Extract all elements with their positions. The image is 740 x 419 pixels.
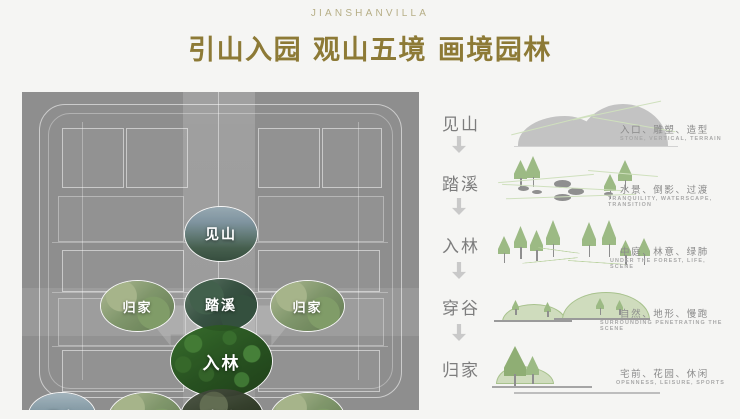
plan-marker-label: 归家 (122, 297, 152, 316)
stage-label-tashi: 踏溪 (442, 170, 480, 195)
building-block (322, 128, 382, 188)
building-block (258, 128, 320, 188)
plan-marker-jianshan-top[interactable]: 见山 (184, 206, 258, 262)
stage-desc-en-guijia: OPENNESS, LEISURE, SPORTS (616, 380, 725, 386)
building-block (58, 196, 184, 242)
plan-marker-label: 见山 (47, 406, 77, 411)
plan-marker-guijia-4[interactable]: 归家 (270, 392, 345, 410)
arrow-down-icon (452, 324, 466, 341)
stage-label-rulin: 入林 (442, 232, 480, 257)
stage-desc-en-tashi: TRANQUILITY, WATERSCAPE, TRANSITION (608, 196, 730, 208)
plan-marker-guijia-2[interactable]: 归家 (270, 280, 345, 332)
plan-marker-label: 入林 (203, 349, 241, 374)
stage-desc-cn-rulin: 中庭、林意、绿肺 (620, 244, 709, 258)
arrow-down-icon (452, 136, 466, 153)
plan-marker-guijia-1[interactable]: 归家 (100, 280, 175, 332)
page-title: 引山入园 观山五境 画境园林 (0, 28, 740, 67)
building-block (62, 350, 184, 392)
arrow-down-icon (452, 198, 466, 215)
stage-label-jianshan: 见山 (442, 110, 480, 135)
building-block (258, 196, 384, 242)
stage-desc-cn-guijia: 宅前、花园、休闲 (620, 366, 709, 380)
plan-marker-tashi[interactable]: 踏溪 (184, 278, 258, 332)
building-block (258, 350, 380, 392)
plan-grid-line (358, 122, 359, 380)
building-block (62, 128, 124, 188)
arrow-down-icon (452, 262, 466, 279)
stage-label-chuangu: 穿谷 (442, 294, 480, 319)
brand-wordmark: JIANSHANVILLA (0, 8, 740, 19)
stage-desc-en-chuangu: SURROUNDING PENETRATING THE SCENE (600, 320, 730, 332)
plan-marker-guijia-3[interactable]: 归家 (108, 392, 183, 410)
plan-marker-label: 归家 (292, 409, 322, 411)
stage-desc-cn-tashi: 水景、倒影、过渡 (620, 182, 709, 196)
site-master-plan[interactable]: 见山 踏溪 入林 穿谷 归家 归家 归家 归家 (22, 92, 419, 410)
building-block (126, 128, 188, 188)
plan-marker-label: 归家 (292, 297, 322, 316)
plan-marker-label: 见山 (205, 224, 237, 244)
plan-marker-label: 踏溪 (205, 295, 237, 315)
stage-desc-en-jianshan: STONE, VERTICAL, TERRAIN (620, 136, 722, 142)
stage-desc-cn-jianshan: 入口、雕塑、造型 (620, 122, 709, 136)
plan-marker-chuangu[interactable]: 穿谷 (180, 388, 264, 410)
stage-desc-en-rulin: UNDER THE FOREST, LIFE, SCENE (610, 258, 730, 270)
stage-label-guijia: 归家 (442, 356, 480, 381)
slide-root: JIANSHANVILLA 引山入园 观山五境 画境园林 (0, 0, 740, 419)
sequence-diagram: 见山 入口、雕塑、造型 STONE, VERTICAL, TERRAIN 踏溪 (430, 92, 730, 412)
plan-grid-line (82, 122, 83, 380)
stage-desc-cn-chuangu: 自然、地形、慢跑 (620, 306, 709, 320)
plan-drawing: 见山 踏溪 入林 穿谷 归家 归家 归家 归家 (22, 92, 419, 410)
plan-marker-jianshan-left[interactable]: 见山 (28, 392, 96, 410)
plan-marker-label: 穿谷 (206, 407, 238, 410)
plan-marker-rulin[interactable]: 入林 (170, 324, 273, 398)
plan-marker-label: 归家 (130, 409, 160, 411)
